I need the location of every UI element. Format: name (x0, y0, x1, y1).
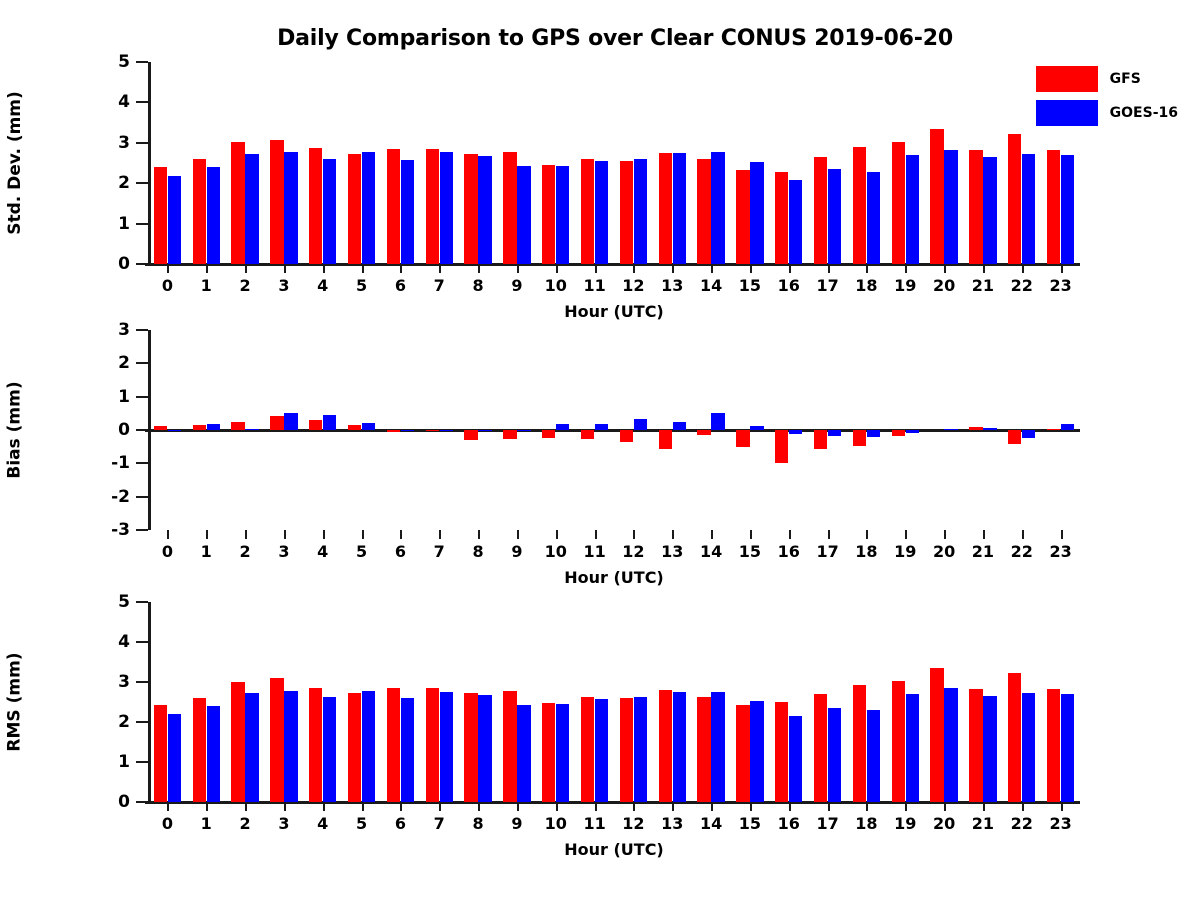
x-axis-tick-label: 6 (395, 814, 406, 833)
bar-rms-gfs-hour-19 (892, 681, 905, 802)
x-axis-tick (672, 530, 674, 539)
x-axis-tick-label: 17 (816, 814, 838, 833)
bar-rms-goes-16-hour-17 (828, 708, 841, 802)
y-axis-tick-label: -2 (111, 487, 130, 507)
x-axis-tick-label: 15 (739, 542, 761, 561)
x-axis-tick (439, 802, 441, 811)
x-axis-tick-label: 21 (972, 542, 994, 561)
x-axis-tick-label: 10 (545, 276, 567, 295)
x-axis-tick (633, 530, 635, 539)
bar-bias-goes-16-hour-1 (207, 424, 220, 430)
bar-std-dev-gfs-hour-0 (154, 167, 167, 264)
x-axis-tick-label: 20 (933, 276, 955, 295)
bar-bias-goes-16-hour-8 (478, 430, 491, 431)
bar-rms-goes-16-hour-6 (401, 698, 414, 802)
bar-bias-gfs-hour-14 (697, 430, 710, 435)
x-axis-tick (362, 530, 364, 539)
x-axis-tick-label: 14 (700, 542, 722, 561)
bar-bias-gfs-hour-5 (348, 425, 361, 430)
x-axis-tick-label: 14 (700, 276, 722, 295)
y-axis-tick (136, 641, 148, 643)
x-axis-tick-label: 11 (583, 814, 605, 833)
x-axis-tick-label: 22 (1011, 542, 1033, 561)
y-axis-tick-label: 0 (118, 254, 130, 274)
x-axis-tick (983, 530, 985, 539)
x-axis-tick (517, 264, 519, 273)
panel-std-dev: Std. Dev. (mm) 0123450123456789101112131… (0, 62, 1200, 312)
x-axis-tick-label: 16 (778, 276, 800, 295)
x-axis-tick-label: 23 (1049, 542, 1071, 561)
bar-group-std-dev (148, 62, 1080, 264)
x-axis-tick (323, 264, 325, 273)
bar-std-dev-gfs-hour-11 (581, 159, 594, 264)
y-axis-tick-label: 4 (118, 92, 130, 112)
bar-rms-goes-16-hour-20 (944, 688, 957, 802)
x-axis-tick (556, 802, 558, 811)
bar-std-dev-gfs-hour-1 (193, 159, 206, 264)
bar-rms-gfs-hour-9 (503, 691, 516, 802)
bar-rms-goes-16-hour-2 (245, 693, 258, 802)
bar-rms-goes-16-hour-22 (1022, 693, 1035, 802)
y-axis-tick-label: 3 (118, 133, 130, 153)
y-axis-tick (136, 142, 148, 144)
bar-rms-gfs-hour-22 (1008, 673, 1021, 802)
x-axis-tick-label: 10 (545, 814, 567, 833)
bar-std-dev-gfs-hour-3 (270, 140, 283, 264)
bar-std-dev-goes-16-hour-14 (711, 152, 724, 264)
bar-rms-goes-16-hour-23 (1061, 694, 1074, 802)
bar-rms-goes-16-hour-15 (750, 701, 763, 802)
bar-std-dev-goes-16-hour-4 (323, 159, 336, 264)
y-axis-tick (136, 61, 148, 63)
bar-std-dev-gfs-hour-5 (348, 154, 361, 264)
bar-rms-goes-16-hour-0 (168, 714, 181, 802)
x-axis-tick-label: 13 (661, 542, 683, 561)
x-axis-tick-label: 0 (162, 276, 173, 295)
x-axis-tick-label: 4 (317, 542, 328, 561)
bar-bias-gfs-hour-12 (620, 430, 633, 442)
bar-bias-goes-16-hour-9 (517, 430, 530, 431)
x-axis-tick-label: 9 (511, 276, 522, 295)
bar-bias-goes-16-hour-3 (284, 413, 297, 430)
bar-bias-gfs-hour-4 (309, 420, 322, 430)
x-axis-tick-label: 19 (894, 542, 916, 561)
bar-rms-goes-16-hour-12 (634, 697, 647, 802)
bar-std-dev-gfs-hour-21 (969, 150, 982, 264)
x-axis-tick (711, 264, 713, 273)
y-axis-tick-label: 3 (118, 672, 130, 692)
bar-std-dev-goes-16-hour-23 (1061, 155, 1074, 264)
y-axis-label-rms: RMS (mm) (0, 602, 30, 802)
bar-rms-gfs-hour-5 (348, 693, 361, 802)
bar-bias-gfs-hour-8 (464, 430, 477, 440)
x-axis-tick-label: 9 (511, 542, 522, 561)
x-axis-tick (245, 530, 247, 539)
x-axis-tick (944, 264, 946, 273)
y-axis-tick-label: 2 (118, 353, 130, 373)
x-axis-tick (478, 802, 480, 811)
bar-std-dev-gfs-hour-13 (659, 153, 672, 264)
bar-std-dev-gfs-hour-9 (503, 152, 516, 264)
y-axis-tick (136, 462, 148, 464)
bar-std-dev-goes-16-hour-2 (245, 154, 258, 264)
x-axis-tick (789, 802, 791, 811)
x-axis-tick (478, 264, 480, 273)
bar-rms-gfs-hour-8 (464, 693, 477, 802)
y-axis-tick (136, 761, 148, 763)
x-axis-tick-label: 10 (545, 542, 567, 561)
bar-bias-gfs-hour-3 (270, 416, 283, 430)
x-axis-tick (905, 802, 907, 811)
bar-std-dev-goes-16-hour-7 (440, 152, 453, 264)
x-axis-tick (595, 530, 597, 539)
bar-std-dev-goes-16-hour-10 (556, 166, 569, 264)
x-axis-tick-label: 7 (434, 276, 445, 295)
x-axis-tick-label: 2 (240, 276, 251, 295)
bar-bias-goes-16-hour-20 (944, 429, 957, 430)
x-axis-tick-label: 2 (240, 542, 251, 561)
y-axis-tick (136, 721, 148, 723)
bar-std-dev-goes-16-hour-19 (906, 155, 919, 264)
bar-bias-gfs-hour-9 (503, 430, 516, 439)
x-axis-tick (323, 802, 325, 811)
x-axis-tick (245, 802, 247, 811)
x-axis-tick (167, 802, 169, 811)
x-axis-tick (672, 802, 674, 811)
x-axis-tick (789, 530, 791, 539)
x-axis-tick (1061, 802, 1063, 811)
x-axis-tick (362, 802, 364, 811)
chart-page: Daily Comparison to GPS over Clear CONUS… (0, 0, 1200, 900)
bar-std-dev-gfs-hour-16 (775, 172, 788, 264)
bar-std-dev-goes-16-hour-13 (673, 153, 686, 264)
bar-std-dev-goes-16-hour-8 (478, 156, 491, 264)
x-axis-tick-label: 5 (356, 276, 367, 295)
bar-rms-gfs-hour-16 (775, 702, 788, 802)
bar-std-dev-gfs-hour-15 (736, 170, 749, 264)
bar-bias-gfs-hour-22 (1008, 430, 1021, 444)
bar-std-dev-goes-16-hour-9 (517, 166, 530, 264)
x-axis-tick (866, 802, 868, 811)
x-axis-tick-label: 18 (855, 814, 877, 833)
bar-rms-goes-16-hour-14 (711, 692, 724, 802)
x-axis-tick (633, 802, 635, 811)
x-axis-tick (944, 530, 946, 539)
bar-bias-gfs-hour-11 (581, 430, 594, 439)
bar-rms-gfs-hour-17 (814, 694, 827, 802)
bar-rms-gfs-hour-23 (1047, 689, 1060, 802)
y-axis-tick (136, 223, 148, 225)
bar-rms-goes-16-hour-21 (983, 696, 996, 802)
bar-bias-gfs-hour-19 (892, 430, 905, 436)
y-axis-tick-label: 5 (118, 52, 130, 72)
bar-rms-goes-16-hour-18 (867, 710, 880, 802)
x-axis-label-std-dev: Hour (UTC) (0, 302, 1200, 321)
panel-bias: Bias (mm) -3-2-1012301234567891011121314… (0, 330, 1200, 580)
bar-bias-gfs-hour-16 (775, 430, 788, 463)
x-axis-tick (711, 530, 713, 539)
bar-std-dev-gfs-hour-17 (814, 157, 827, 264)
x-axis-tick-label: 12 (622, 542, 644, 561)
bar-bias-gfs-hour-10 (542, 430, 555, 438)
bar-std-dev-goes-16-hour-16 (789, 180, 802, 264)
y-axis-tick (136, 329, 148, 331)
bar-bias-goes-16-hour-19 (906, 430, 919, 433)
x-axis-tick-label: 7 (434, 814, 445, 833)
x-axis-tick (595, 802, 597, 811)
x-axis-tick-label: 9 (511, 814, 522, 833)
bar-std-dev-gfs-hour-19 (892, 142, 905, 264)
x-axis-tick (672, 264, 674, 273)
y-axis-tick (136, 429, 148, 431)
x-axis-tick-label: 19 (894, 814, 916, 833)
bar-std-dev-goes-16-hour-18 (867, 172, 880, 264)
x-axis-tick-label: 13 (661, 276, 683, 295)
x-axis-tick (866, 264, 868, 273)
x-axis-tick-label: 0 (162, 814, 173, 833)
bar-group-bias (148, 330, 1080, 530)
plot-area-std-dev: 0123450123456789101112131415161718192021… (148, 62, 1080, 264)
x-axis-tick (167, 264, 169, 273)
x-axis-tick-label: 6 (395, 542, 406, 561)
x-axis-tick (556, 530, 558, 539)
bar-bias-goes-16-hour-12 (634, 419, 647, 430)
bar-group-rms (148, 602, 1080, 802)
x-axis-label-bias: Hour (UTC) (0, 568, 1200, 587)
y-axis-tick-label: 0 (118, 792, 130, 812)
bar-bias-gfs-hour-2 (231, 422, 244, 430)
x-axis-tick-label: 18 (855, 276, 877, 295)
x-axis-tick (750, 264, 752, 273)
x-axis-tick-label: 15 (739, 814, 761, 833)
bar-bias-goes-16-hour-18 (867, 430, 880, 437)
x-axis-tick (750, 802, 752, 811)
x-axis-tick-label: 8 (473, 276, 484, 295)
bar-std-dev-goes-16-hour-1 (207, 167, 220, 264)
bar-rms-gfs-hour-10 (542, 703, 555, 802)
bar-std-dev-gfs-hour-8 (464, 154, 477, 264)
x-axis-tick-label: 19 (894, 276, 916, 295)
y-axis-tick-label: 0 (118, 420, 130, 440)
x-axis-tick (1061, 264, 1063, 273)
x-axis-tick (400, 530, 402, 539)
y-axis-tick-label: 1 (118, 387, 130, 407)
x-axis-tick-label: 17 (816, 276, 838, 295)
x-axis-tick (284, 530, 286, 539)
x-axis-tick (400, 802, 402, 811)
x-axis-tick-label: 22 (1011, 276, 1033, 295)
y-axis-tick (136, 396, 148, 398)
bar-bias-goes-16-hour-6 (401, 430, 414, 431)
y-axis-tick-label: -1 (111, 453, 130, 473)
x-axis-tick (828, 530, 830, 539)
bar-bias-goes-16-hour-21 (983, 428, 996, 430)
y-axis-tick (136, 601, 148, 603)
x-axis-tick (983, 264, 985, 273)
x-axis-tick (517, 530, 519, 539)
x-axis-tick-label: 14 (700, 814, 722, 833)
bar-std-dev-goes-16-hour-21 (983, 157, 996, 264)
x-axis-tick (206, 530, 208, 539)
x-axis-tick (750, 530, 752, 539)
x-axis-tick-label: 8 (473, 814, 484, 833)
y-axis-tick-label: 2 (118, 173, 130, 193)
bar-bias-gfs-hour-21 (969, 427, 982, 430)
x-axis-tick (1022, 264, 1024, 273)
bar-rms-gfs-hour-0 (154, 705, 167, 802)
bar-rms-gfs-hour-11 (581, 697, 594, 802)
bar-rms-goes-16-hour-16 (789, 716, 802, 802)
bar-std-dev-gfs-hour-18 (853, 147, 866, 264)
x-axis-tick-label: 12 (622, 814, 644, 833)
bar-std-dev-goes-16-hour-17 (828, 169, 841, 264)
bar-rms-goes-16-hour-8 (478, 695, 491, 802)
bar-std-dev-gfs-hour-20 (930, 129, 943, 264)
bar-rms-gfs-hour-4 (309, 688, 322, 802)
bar-std-dev-gfs-hour-4 (309, 148, 322, 264)
bar-std-dev-goes-16-hour-15 (750, 162, 763, 264)
bar-bias-gfs-hour-0 (154, 426, 167, 430)
x-axis-tick (323, 530, 325, 539)
bar-rms-goes-16-hour-10 (556, 704, 569, 802)
bar-std-dev-gfs-hour-23 (1047, 150, 1060, 264)
bar-rms-gfs-hour-7 (426, 688, 439, 802)
x-axis-tick (905, 530, 907, 539)
bar-std-dev-gfs-hour-22 (1008, 134, 1021, 264)
x-axis-tick (789, 264, 791, 273)
bar-rms-goes-16-hour-3 (284, 691, 297, 802)
y-axis-tick (136, 529, 148, 531)
x-axis-tick (944, 802, 946, 811)
bar-bias-gfs-hour-13 (659, 430, 672, 449)
bar-std-dev-goes-16-hour-20 (944, 150, 957, 264)
x-axis-tick-label: 4 (317, 814, 328, 833)
bar-bias-goes-16-hour-4 (323, 415, 336, 430)
bar-bias-gfs-hour-6 (387, 430, 400, 432)
bar-rms-gfs-hour-12 (620, 698, 633, 802)
bar-rms-goes-16-hour-4 (323, 697, 336, 802)
x-axis-tick-label: 2 (240, 814, 251, 833)
x-axis-tick (828, 802, 830, 811)
x-axis-tick-label: 1 (201, 276, 212, 295)
x-axis-tick-label: 11 (583, 542, 605, 561)
bar-rms-goes-16-hour-9 (517, 705, 530, 802)
y-axis-tick-label: 2 (118, 712, 130, 732)
bar-rms-gfs-hour-6 (387, 688, 400, 802)
x-axis-tick (556, 264, 558, 273)
y-axis-tick (136, 101, 148, 103)
bar-rms-goes-16-hour-13 (673, 692, 686, 802)
y-axis-tick-label: 4 (118, 632, 130, 652)
y-axis-tick (136, 681, 148, 683)
x-axis-tick (245, 264, 247, 273)
bar-std-dev-goes-16-hour-22 (1022, 154, 1035, 264)
bar-std-dev-gfs-hour-12 (620, 161, 633, 264)
bar-rms-goes-16-hour-1 (207, 706, 220, 802)
x-axis-tick (439, 530, 441, 539)
x-axis-tick-label: 16 (778, 542, 800, 561)
bar-std-dev-gfs-hour-14 (697, 159, 710, 264)
x-axis-tick (1022, 530, 1024, 539)
bar-bias-goes-16-hour-2 (245, 429, 258, 430)
x-axis-tick-label: 15 (739, 276, 761, 295)
y-axis-tick-label: 1 (118, 214, 130, 234)
x-axis-tick-label: 11 (583, 276, 605, 295)
x-axis-tick-label: 5 (356, 814, 367, 833)
x-axis-tick (633, 264, 635, 273)
bar-bias-goes-16-hour-7 (440, 430, 453, 431)
bar-rms-goes-16-hour-7 (440, 692, 453, 802)
bar-std-dev-goes-16-hour-5 (362, 152, 375, 264)
y-axis-tick-label: 3 (118, 320, 130, 340)
x-axis-tick-label: 3 (278, 276, 289, 295)
y-axis-label-std-dev: Std. Dev. (mm) (0, 62, 30, 264)
bar-bias-goes-16-hour-15 (750, 426, 763, 430)
bar-rms-gfs-hour-13 (659, 690, 672, 802)
bar-bias-goes-16-hour-10 (556, 424, 569, 430)
bar-std-dev-gfs-hour-6 (387, 149, 400, 264)
x-axis-tick (478, 530, 480, 539)
bar-bias-gfs-hour-15 (736, 430, 749, 447)
x-axis-tick-label: 5 (356, 542, 367, 561)
x-axis-tick-label: 23 (1049, 814, 1071, 833)
y-axis-tick (136, 263, 148, 265)
bar-std-dev-goes-16-hour-6 (401, 160, 414, 264)
y-axis-tick (136, 362, 148, 364)
x-axis-tick-label: 1 (201, 814, 212, 833)
x-axis-tick-label: 21 (972, 276, 994, 295)
bar-std-dev-gfs-hour-10 (542, 165, 555, 264)
bar-rms-goes-16-hour-11 (595, 699, 608, 802)
bar-rms-gfs-hour-20 (930, 668, 943, 802)
x-axis-tick (866, 530, 868, 539)
bar-bias-gfs-hour-17 (814, 430, 827, 449)
bar-bias-goes-16-hour-0 (168, 430, 181, 431)
bar-bias-goes-16-hour-13 (673, 422, 686, 430)
x-axis-tick-label: 13 (661, 814, 683, 833)
bar-std-dev-gfs-hour-2 (231, 142, 244, 264)
y-axis-tick (136, 496, 148, 498)
x-axis-tick (439, 264, 441, 273)
bar-rms-gfs-hour-15 (736, 705, 749, 802)
x-axis-tick-label: 23 (1049, 276, 1071, 295)
x-axis-tick-label: 20 (933, 542, 955, 561)
bar-std-dev-goes-16-hour-11 (595, 161, 608, 264)
bar-bias-goes-16-hour-23 (1061, 424, 1074, 430)
x-axis-tick (905, 264, 907, 273)
x-axis-tick-label: 4 (317, 276, 328, 295)
x-axis-tick (284, 802, 286, 811)
y-axis-tick-label: 1 (118, 752, 130, 772)
x-axis-tick (400, 264, 402, 273)
y-axis-tick-label: 5 (118, 592, 130, 612)
x-axis-tick-label: 16 (778, 814, 800, 833)
bar-std-dev-gfs-hour-7 (426, 149, 439, 264)
bar-bias-goes-16-hour-11 (595, 424, 608, 430)
x-axis-tick (983, 802, 985, 811)
panel-rms: RMS (mm) 0123450123456789101112131415161… (0, 602, 1200, 852)
bar-rms-gfs-hour-14 (697, 697, 710, 802)
x-axis-tick-label: 18 (855, 542, 877, 561)
x-axis-tick (595, 264, 597, 273)
x-axis-tick (167, 530, 169, 539)
bar-std-dev-goes-16-hour-0 (168, 176, 181, 264)
bar-bias-goes-16-hour-17 (828, 430, 841, 436)
x-axis-tick-label: 22 (1011, 814, 1033, 833)
x-axis-tick-label: 20 (933, 814, 955, 833)
bar-std-dev-goes-16-hour-12 (634, 159, 647, 264)
bar-bias-gfs-hour-1 (193, 425, 206, 430)
